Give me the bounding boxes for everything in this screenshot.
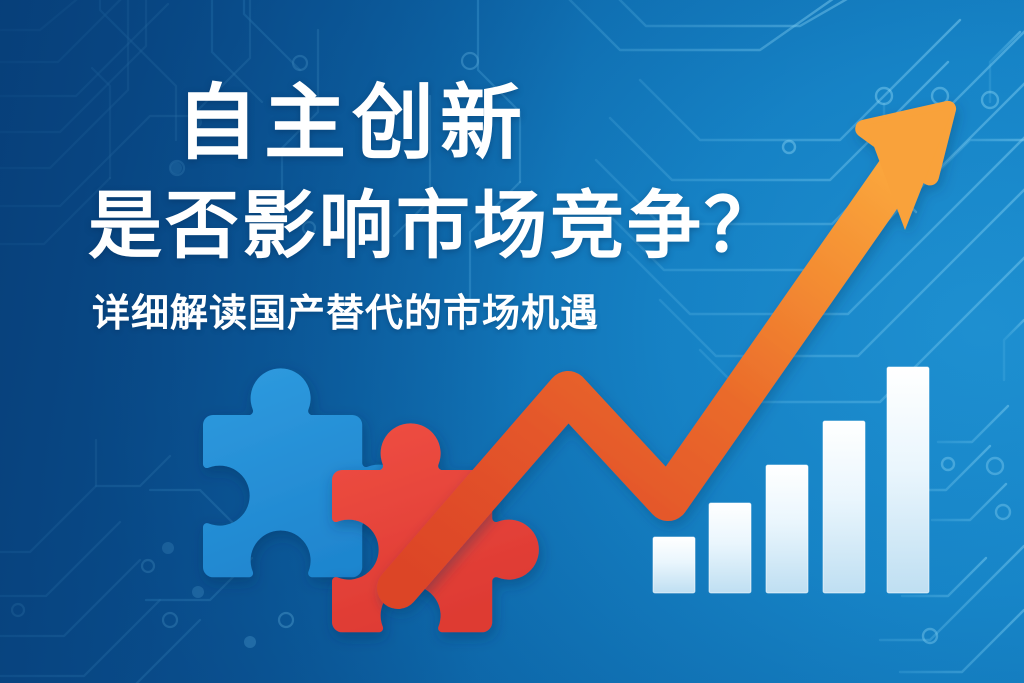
page-title-line-1: 自主创新 (176, 83, 528, 165)
poster-canvas: 自主创新 是否影响市场竞争？ 详细解读国产替代的市场机遇 (0, 0, 1024, 683)
page-title-line-2: 是否影响市场竞争？ (88, 189, 781, 263)
page-subtitle: 详细解读国产替代的市场机遇 (92, 295, 599, 333)
